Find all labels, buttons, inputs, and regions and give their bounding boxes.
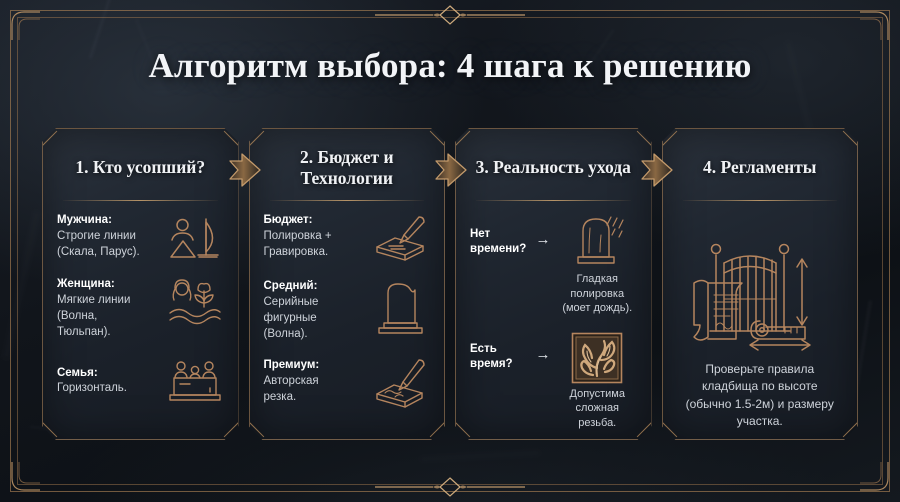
arrow-right-icon: → xyxy=(533,332,553,363)
branch-question: Нет времени? xyxy=(470,213,528,258)
list-item[interactable]: Премиум: Авторская резка. xyxy=(264,358,431,410)
page-title: Алгоритм выбора: 4 шага к решению xyxy=(0,46,900,86)
carved-ornament-tile-icon xyxy=(558,332,637,384)
arrow-right-icon: → xyxy=(533,213,553,248)
card-bevel xyxy=(843,422,858,438)
card-bevel xyxy=(42,131,57,147)
engraving-tool-plate-icon xyxy=(372,213,430,263)
row-label: Бюджет: xyxy=(264,213,369,229)
man-sailboat-icon xyxy=(166,213,224,263)
row-body: Горизонталь. xyxy=(57,381,162,397)
branch-caption: Допустима сложная резьба. xyxy=(558,387,637,431)
card-bevel xyxy=(662,131,677,147)
row-body: Строгие линии (Скала, Парус). xyxy=(57,229,162,261)
gate-scroll-measure-icon xyxy=(680,229,840,347)
card-bevel xyxy=(430,131,445,147)
card-bevel xyxy=(455,422,470,438)
frame-corner-bl-icon xyxy=(10,458,44,492)
row-body: Мягкие линии (Волна, Тюльпан). xyxy=(57,293,162,341)
card-bevel xyxy=(223,131,238,147)
row-body: Серийные фигурные (Волна). xyxy=(264,295,369,343)
steps-container: 1. Кто усопший? Мужчина: Строгие линии (… xyxy=(42,128,858,440)
card-bevel xyxy=(455,131,470,147)
frame-corner-tr-icon xyxy=(856,10,890,44)
row-label: Семья: xyxy=(57,366,162,382)
frame-corner-br-icon xyxy=(856,458,890,492)
card-title: 4. Регламенты xyxy=(677,145,844,191)
branch-item[interactable]: Нет времени? → xyxy=(470,213,637,316)
card-divider xyxy=(683,200,838,201)
card-divider xyxy=(63,200,218,201)
row-label: Премиум: xyxy=(264,358,369,374)
row-label: Женщина: xyxy=(57,277,162,293)
card-title: 2. Бюджет и Технологии xyxy=(264,145,431,191)
card-bevel xyxy=(636,131,651,147)
carving-chisel-ornament-icon xyxy=(372,358,430,410)
card-title: 3. Реальность ухода xyxy=(470,145,637,191)
row-label: Средний: xyxy=(264,279,369,295)
card-bevel xyxy=(42,422,57,438)
list-item[interactable]: Мужчина: Строгие линии (Скала, Парус). xyxy=(57,213,224,263)
diamond-ornament-top-icon xyxy=(375,2,525,28)
card-title: 1. Кто усопший? xyxy=(57,145,224,191)
slide-canvas: Алгоритм выбора: 4 шага к решению 1. Кто… xyxy=(0,0,900,502)
card-bevel xyxy=(249,422,264,438)
card-divider xyxy=(270,200,425,201)
woman-tulip-wave-icon xyxy=(166,277,224,331)
row-body: Авторская резка. xyxy=(264,374,369,406)
frame-corner-tl-icon xyxy=(10,10,44,44)
row-body: Полировка + Гравировка. xyxy=(264,229,369,261)
step-card-4[interactable]: 4. Регламенты xyxy=(662,128,859,440)
card-body-text: Проверьте правила кладбища по высоте (об… xyxy=(677,361,844,431)
card-bevel xyxy=(249,131,264,147)
list-item[interactable]: Бюджет: Полировка + Гравировка. xyxy=(264,213,431,263)
card-divider xyxy=(476,200,631,201)
marble-vein xyxy=(4,211,38,358)
diamond-ornament-bottom-icon xyxy=(375,474,525,500)
step-card-1[interactable]: 1. Кто усопший? Мужчина: Строгие линии (… xyxy=(42,128,239,440)
rain-polished-stone-icon xyxy=(558,213,637,269)
branch-item[interactable]: Есть время? → xyxy=(470,332,637,431)
card-bevel xyxy=(662,422,677,438)
list-item[interactable]: Женщина: Мягкие линии (Волна, Тюльпан). xyxy=(57,277,224,340)
family-horizontal-monument-icon xyxy=(166,358,224,404)
list-item[interactable]: Семья: Горизонталь. xyxy=(57,358,224,404)
list-item[interactable]: Средний: Серийные фигурные (Волна). xyxy=(264,279,431,342)
marble-vein xyxy=(420,452,540,460)
branch-caption: Гладкая полировка (моет дождь). xyxy=(558,272,637,316)
card-bevel xyxy=(636,422,651,438)
wave-shaped-monument-icon xyxy=(372,279,430,335)
card-bevel xyxy=(843,131,858,147)
step-card-2[interactable]: 2. Бюджет и Технологии Бюджет: Полировка… xyxy=(249,128,446,440)
branch-question: Есть время? xyxy=(470,332,528,373)
card-bevel xyxy=(223,422,238,438)
step-card-3[interactable]: 3. Реальность ухода Нет времени? → xyxy=(455,128,652,440)
row-label: Мужчина: xyxy=(57,213,162,229)
card-bevel xyxy=(430,422,445,438)
